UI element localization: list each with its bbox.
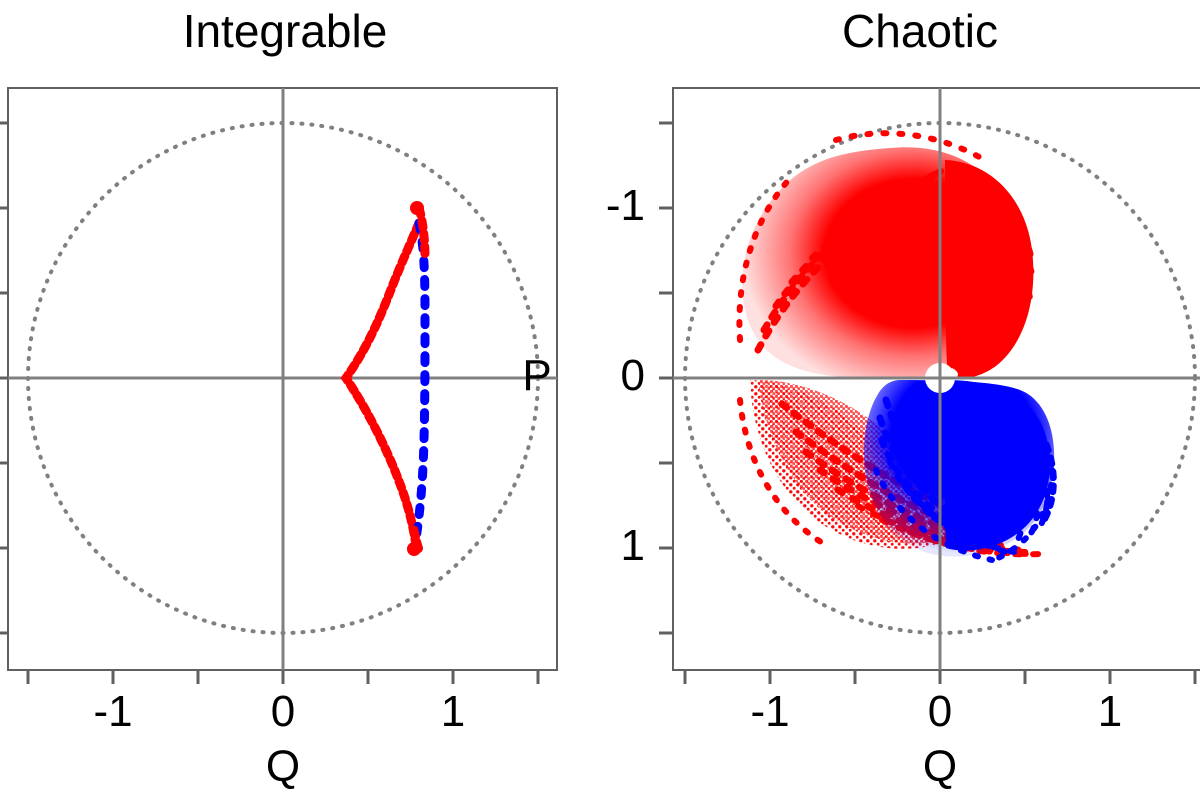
- y-axis-label-right: P: [517, 354, 557, 398]
- x-ticks: [28, 670, 538, 684]
- y-tick-label-neg1-right: 1: [555, 524, 645, 568]
- plot-area-integrable: [0, 0, 600, 720]
- x-tick-label-0-left: 0: [233, 690, 333, 734]
- cusp-bottom-marker: [407, 542, 421, 556]
- y-tick-label-1-right: -1: [555, 184, 645, 228]
- x-tick-label-0-right: 0: [890, 690, 990, 734]
- x-axis-label-left: Q: [233, 745, 333, 789]
- x-tick-label-1-right: 1: [1060, 690, 1160, 734]
- y-ticks: [0, 123, 8, 633]
- x-tick-label-neg1-left: -1: [63, 690, 163, 734]
- plot-area-chaotic: [600, 0, 1200, 720]
- figure-root: Integrable: [0, 0, 1200, 800]
- cusp-top-marker: [410, 201, 424, 215]
- x-tick-label-neg1-right: -1: [720, 690, 820, 734]
- panel-chaotic: Chaotic: [600, 0, 1200, 800]
- x-tick-label-1-left: 1: [403, 690, 503, 734]
- x-ticks: [685, 670, 1195, 684]
- panel-integrable: Integrable: [0, 0, 600, 800]
- y-ticks: [659, 123, 673, 633]
- y-tick-label-0-right: 0: [555, 354, 645, 398]
- x-axis-label-right: Q: [890, 745, 990, 789]
